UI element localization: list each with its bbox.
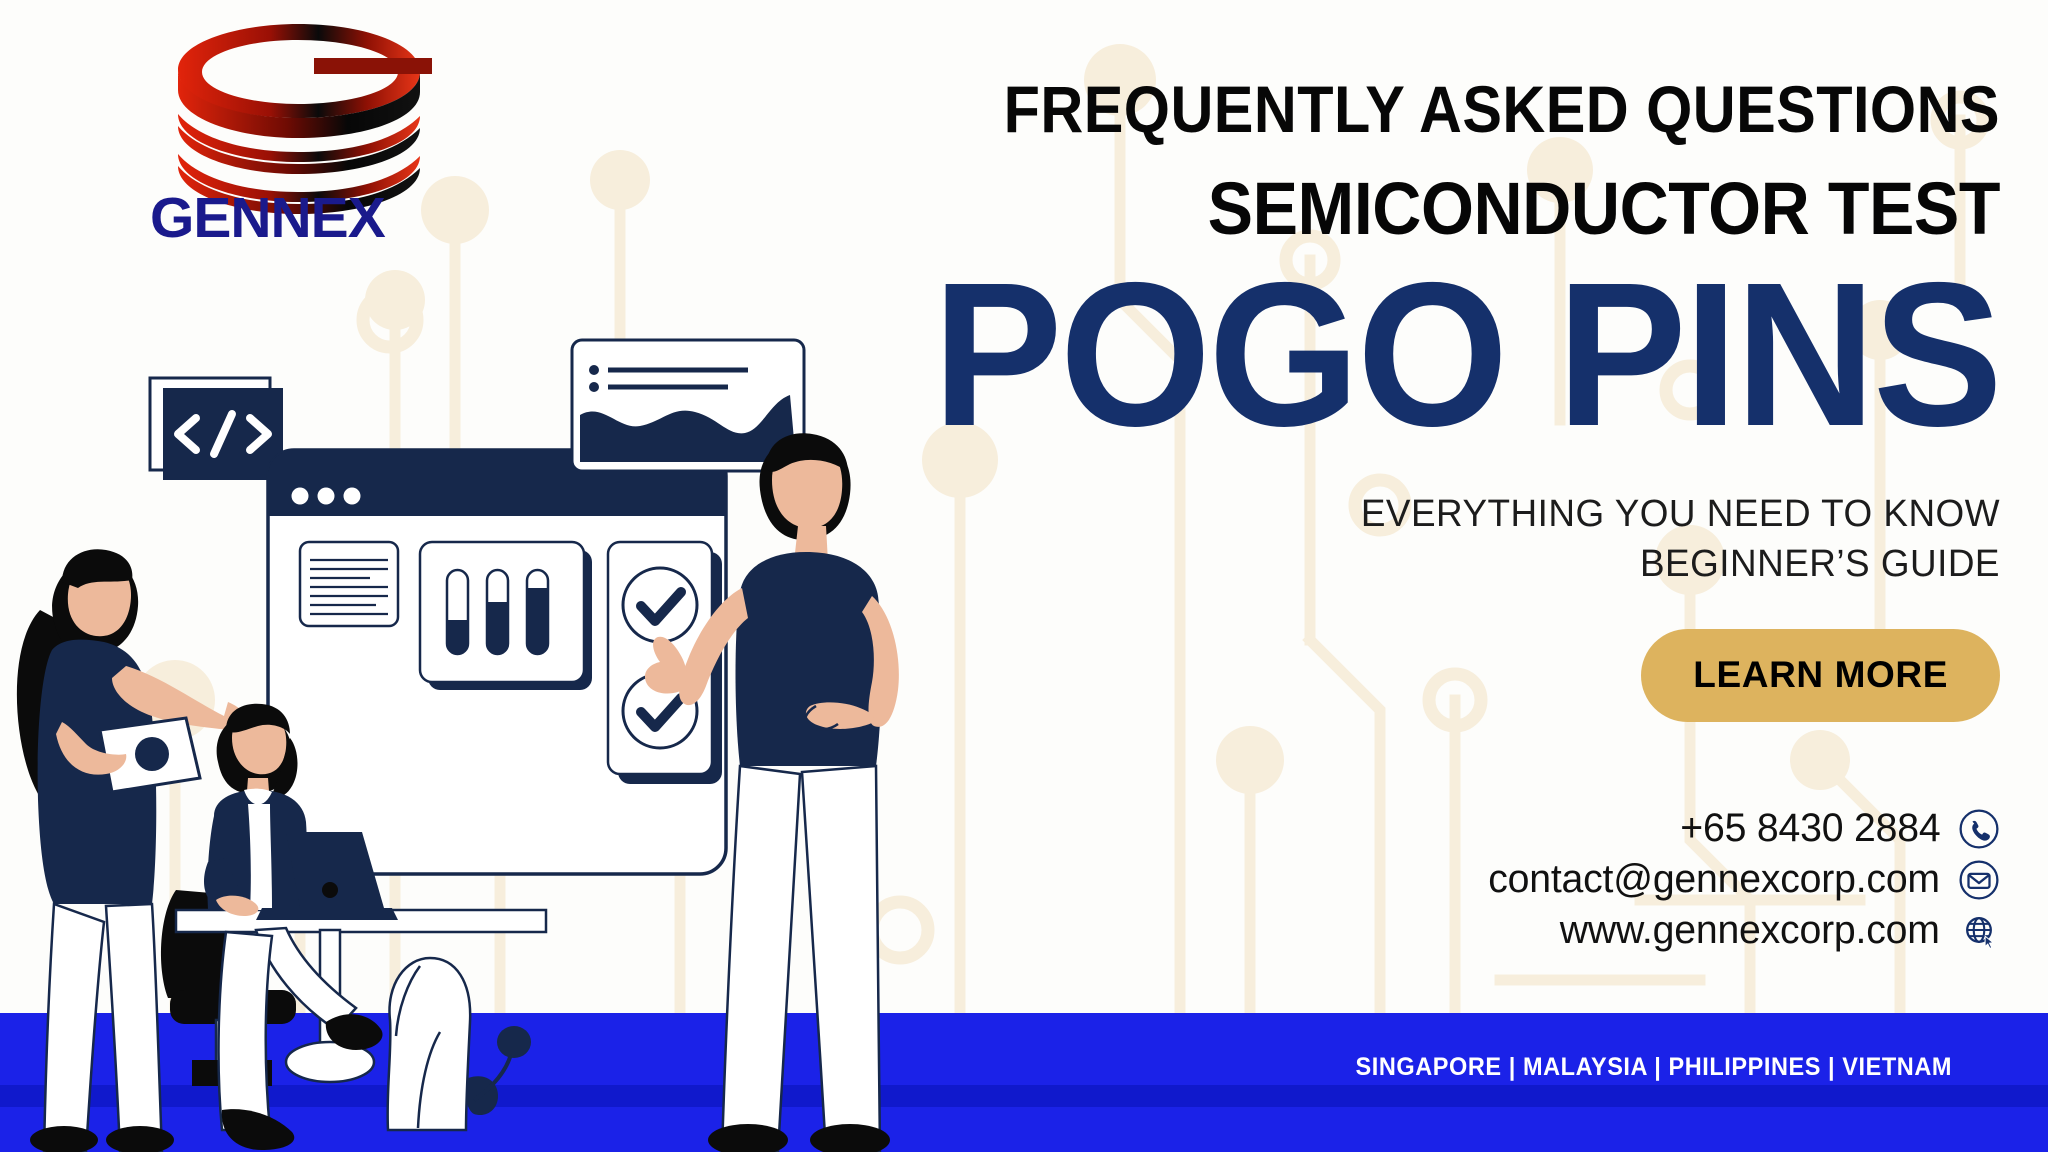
contact-list: +65 8430 2884 contact@gennexcorp.com www…	[820, 806, 2000, 952]
website-url-text: www.gennexcorp.com	[1560, 908, 1940, 953]
subtitle-line-2: BEGINNER’S GUIDE	[855, 539, 2000, 589]
phone-number-text: +65 8430 2884	[1680, 806, 1940, 851]
subtitle-line-1: EVERYTHING YOU NEED TO KNOW	[855, 489, 2000, 539]
subtitle-block: EVERYTHING YOU NEED TO KNOW BEGINNER’S G…	[855, 489, 2000, 589]
contact-row-email[interactable]: contact@gennexcorp.com	[1479, 857, 2000, 902]
globe-icon	[1958, 909, 2000, 951]
headline-column: FREQUENTLY ASKED QUESTIONS SEMICONDUCTOR…	[820, 0, 2000, 953]
footer-countries-text: SINGAPORE | MALAYSIA | PHILIPPINES | VIE…	[117, 1053, 1952, 1082]
team-dashboard-illustration	[0, 330, 940, 1152]
page-title: POGO PINS	[879, 250, 2000, 459]
cta-row: LEARN MORE	[820, 629, 2000, 722]
email-address-text: contact@gennexcorp.com	[1488, 857, 1940, 902]
contact-row-phone[interactable]: +65 8430 2884	[1675, 806, 2000, 851]
brand-wordmark: GENNEX	[150, 190, 440, 247]
learn-more-button[interactable]: LEARN MORE	[1641, 629, 2000, 722]
contact-row-website[interactable]: www.gennexcorp.com	[1552, 908, 2000, 953]
eyebrow-heading: FREQUENTLY ASKED QUESTIONS	[938, 76, 2000, 142]
category-heading: SEMICONDUCTOR TEST	[914, 172, 2000, 246]
faq-banner: GENNEX FREQUENTLY ASKED QUESTIONS SEMICO…	[0, 0, 2048, 1152]
email-icon	[1958, 859, 2000, 901]
phone-icon	[1958, 808, 2000, 850]
